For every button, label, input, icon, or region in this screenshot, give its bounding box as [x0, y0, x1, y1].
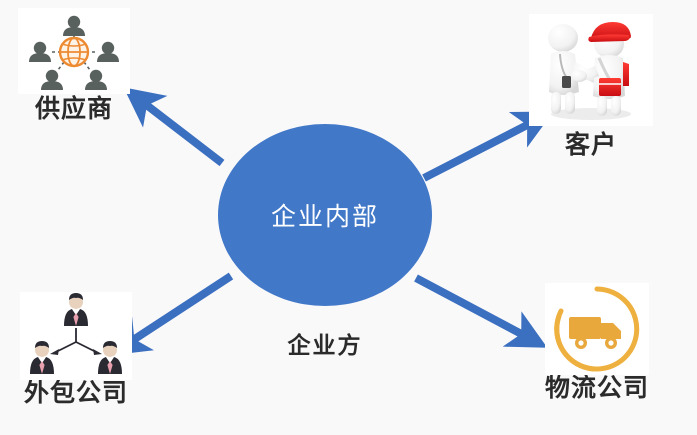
diagram-canvas: 企业内部 企业方: [0, 0, 697, 435]
arrow-center-to-customers: [424, 121, 535, 178]
handshake-3d-figures-icon: [529, 14, 653, 126]
arrow-center-to-suppliers: [140, 100, 222, 163]
arrow-center-to-outsourcing: [127, 276, 231, 344]
node-customers[interactable]: 客户: [529, 14, 653, 160]
center-node-caption: 企业方: [218, 326, 432, 360]
arrow-center-to-logistics: [416, 278, 529, 338]
node-suppliers-label: 供应商: [35, 96, 113, 124]
businessmen-org-chart-icon: [20, 292, 132, 380]
node-outsourcing-label: 外包公司: [24, 380, 128, 408]
node-logistics-label: 物流公司: [545, 375, 649, 403]
node-suppliers[interactable]: 供应商: [18, 8, 130, 124]
node-customers-label: 客户: [565, 132, 617, 160]
center-node-enterprise[interactable]: 企业内部: [218, 124, 432, 306]
center-node-label: 企业内部: [271, 197, 379, 233]
node-logistics[interactable]: 物流公司: [545, 283, 649, 403]
node-outsourcing[interactable]: 外包公司: [20, 292, 132, 408]
delivery-truck-circle-icon: [545, 283, 649, 375]
people-globe-network-icon: [18, 8, 130, 94]
